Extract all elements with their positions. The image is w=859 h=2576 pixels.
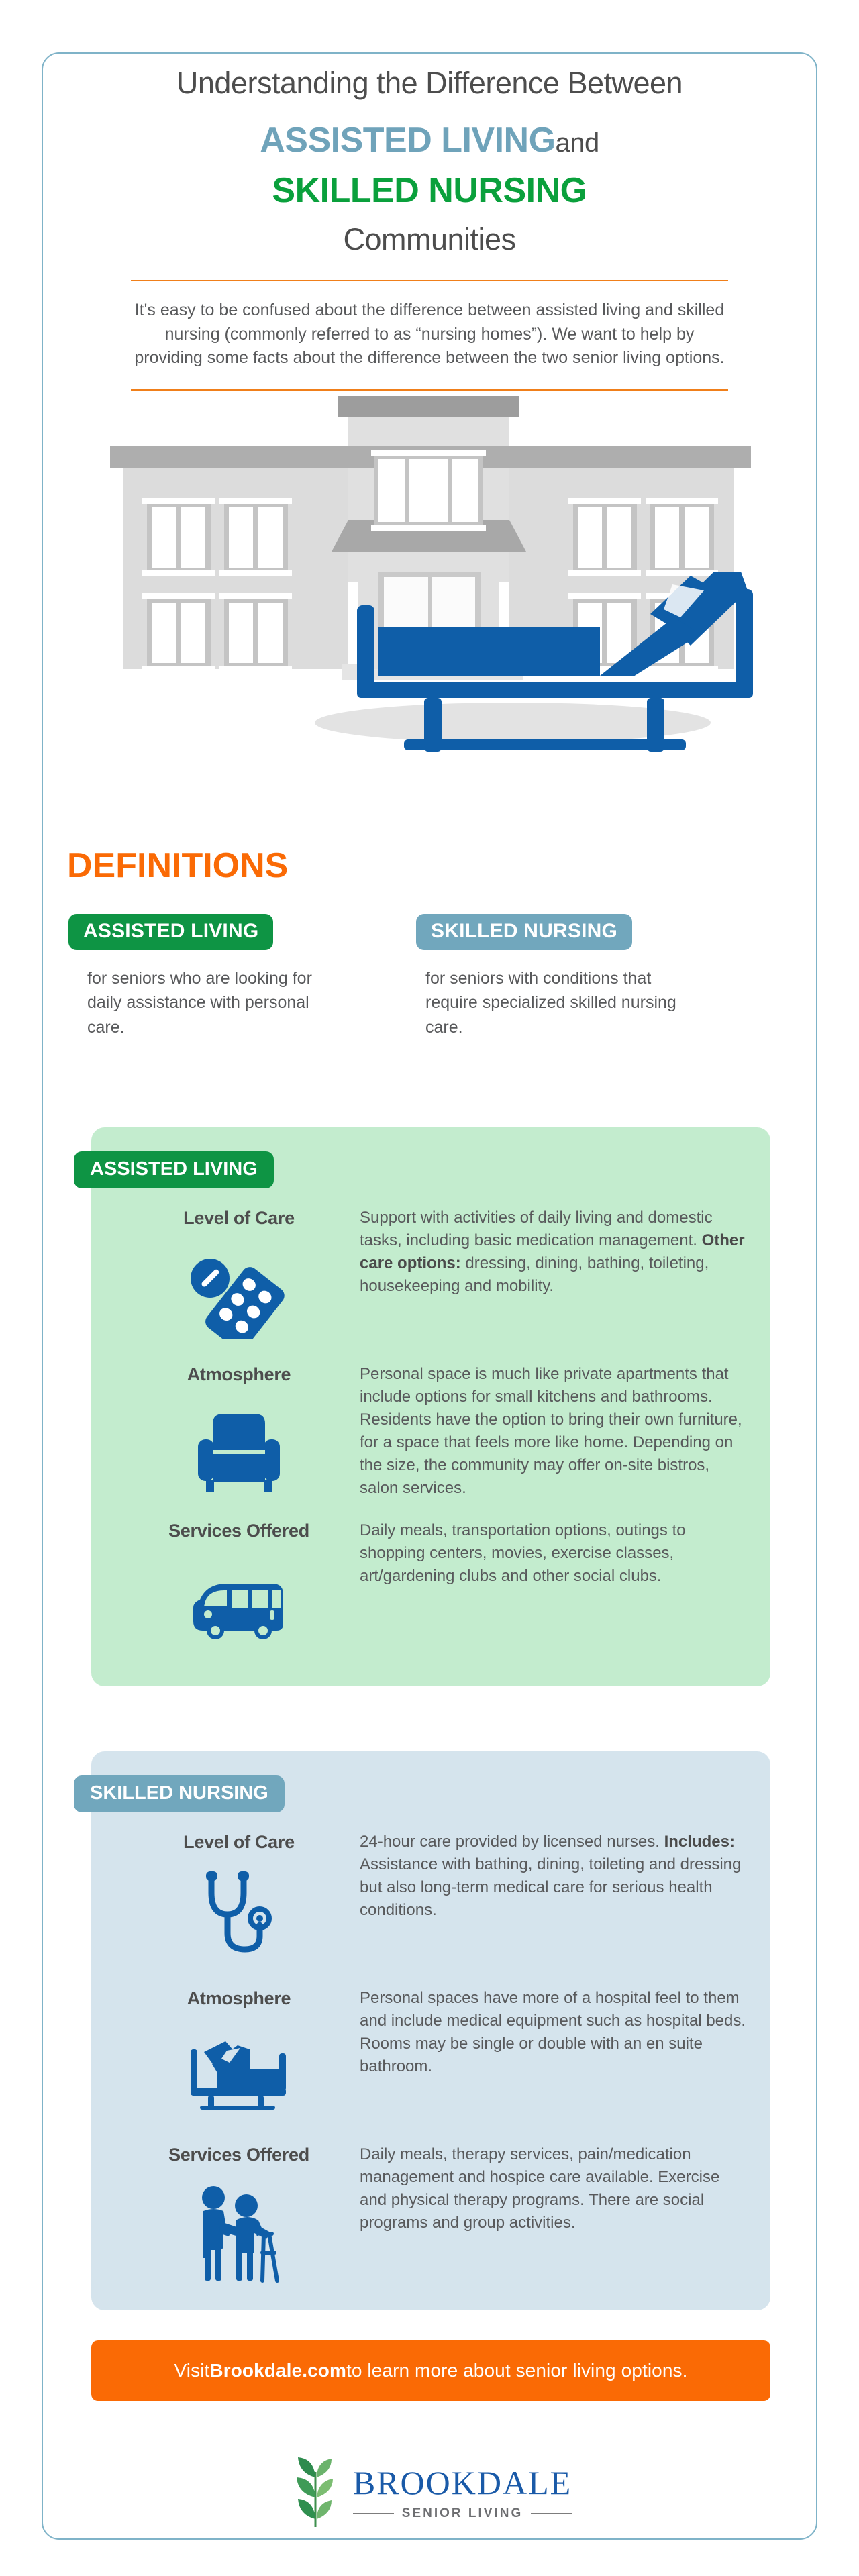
title-communities: Communities <box>43 222 816 257</box>
row-body-level-of-care-sn: 24-hour care provided by licensed nurses… <box>360 1831 746 1922</box>
row-atmosphere-al: Atmosphere Personal <box>91 1363 770 1503</box>
brookdale-logo: BROOKDALE SENIOR LIVING <box>43 2455 819 2532</box>
row-body-services-offered-sn: Daily meals, therapy services, pain/medi… <box>360 2143 746 2234</box>
logo-text-block: BROOKDALE SENIOR LIVING <box>353 2466 572 2521</box>
stethoscope-icon <box>118 1870 360 1971</box>
panel-badge-assisted-living: ASSISTED LIVING <box>74 1151 274 1188</box>
definition-text-skilled-nursing: for seniors with conditions that require… <box>416 966 698 1039</box>
logo-rule-left <box>353 2513 394 2514</box>
row-left-sn-2: Services Offered <box>118 2143 360 2283</box>
divider-top <box>131 280 728 281</box>
leaf-icon <box>290 2455 342 2532</box>
hospital-bed-icon <box>118 2026 360 2127</box>
logo-rule-right <box>531 2513 572 2514</box>
definition-badge-skilled-nursing: SKILLED NURSING <box>416 914 632 950</box>
panel-assisted-living: ASSISTED LIVING Level of Care <box>91 1127 770 1686</box>
panel-badge-skilled-nursing: SKILLED NURSING <box>74 1775 285 1812</box>
row-label-atmosphere-sn: Atmosphere <box>118 1988 360 2009</box>
row-left-al-2: Services Offered <box>118 1519 360 1659</box>
row-label-atmosphere-al: Atmosphere <box>118 1364 360 1385</box>
row-left-al-1: Atmosphere <box>118 1363 360 1503</box>
row-level-of-care-sn: Level of Care <box>91 1831 770 1971</box>
row-left-sn-1: Atmosphere <box>118 1987 360 2127</box>
row-left-sn-0: Level of Care <box>118 1831 360 1971</box>
definition-skilled-nursing: SKILLED NURSING for seniors with conditi… <box>416 914 698 1039</box>
title-assisted-living: ASSISTED LIVING <box>260 121 555 160</box>
sn-loc-lead: 24-hour care provided by licensed nurses… <box>360 1833 664 1851</box>
sn-svc-lead: Daily meals, therapy services, pain/medi… <box>360 2145 719 2232</box>
row-body-services-offered-al: Daily meals, transportation options, out… <box>360 1519 746 1588</box>
cta-prefix: Visit <box>174 2360 210 2381</box>
page-title-line-2: ASSISTED LIVINGand <box>43 119 816 161</box>
definitions-heading: DEFINITIONS <box>67 845 288 886</box>
row-atmosphere-sn: Atmosphere <box>91 1987 770 2127</box>
cta-suffix: to learn more about senior living option… <box>346 2360 688 2381</box>
row-services-offered-sn: Services Offered <box>91 2143 770 2283</box>
divider-bottom <box>131 389 728 391</box>
pills-icon <box>118 1246 360 1347</box>
panel-skilled-nursing: SKILLED NURSING Level of Care <box>91 1751 770 2310</box>
logo-wordmark: BROOKDALE <box>353 2466 572 2500</box>
logo-subtitle-row: SENIOR LIVING <box>353 2506 572 2521</box>
row-label-services-offered-sn: Services Offered <box>118 2145 360 2165</box>
sn-loc-rest: Assistance with bathing, dining, toileti… <box>360 1855 741 1919</box>
al-loc-lead: Support with activities of daily living … <box>360 1208 713 1249</box>
infographic-frame: Understanding the Difference Between ASS… <box>42 52 817 2540</box>
definition-badge-assisted-living: ASSISTED LIVING <box>68 914 273 950</box>
cta-brand-link[interactable]: Brookdale.com <box>209 2360 346 2381</box>
row-body-atmosphere-sn: Personal spaces have more of a hospital … <box>360 1987 746 2078</box>
skilled-nursing-rows: Level of Care <box>91 1751 770 2310</box>
al-svc-lead: Daily meals, transportation options, out… <box>360 1521 686 1585</box>
cta-banner[interactable]: Visit Brookdale.com to learn more about … <box>91 2340 770 2401</box>
sn-atm-lead: Personal spaces have more of a hospital … <box>360 1989 746 2075</box>
logo-subtitle: SENIOR LIVING <box>402 2506 523 2521</box>
armchair-icon <box>118 1402 360 1503</box>
row-services-offered-al: Services Offered <box>91 1519 770 1659</box>
row-label-level-of-care-al: Level of Care <box>118 1208 360 1229</box>
definitions-grid: ASSISTED LIVING for seniors who are look… <box>68 914 793 1039</box>
hero-illustration <box>43 396 819 752</box>
definition-assisted-living: ASSISTED LIVING for seniors who are look… <box>68 914 350 1039</box>
row-label-services-offered-al: Services Offered <box>118 1521 360 1541</box>
title-skilled-nursing: SKILLED NURSING <box>43 170 816 211</box>
assisted-living-rows: Level of Care <box>91 1127 770 1686</box>
row-body-level-of-care-al: Support with activities of daily living … <box>360 1206 746 1298</box>
al-atm-lead: Personal space is much like private apar… <box>360 1365 742 1497</box>
title-conjunction: and <box>556 128 599 158</box>
caregiver-walker-icon <box>118 2183 360 2283</box>
shuttle-van-icon <box>118 1559 360 1659</box>
page-title-line-1: Understanding the Difference Between <box>43 64 816 102</box>
header: Understanding the Difference Between ASS… <box>43 54 816 257</box>
row-body-atmosphere-al: Personal space is much like private apar… <box>360 1363 746 1500</box>
row-level-of-care-al: Level of Care <box>91 1206 770 1347</box>
definition-text-assisted-living: for seniors who are looking for daily as… <box>68 966 350 1039</box>
sn-loc-bold: Includes: <box>664 1833 735 1851</box>
intro-paragraph: It's easy to be confused about the diffe… <box>134 299 725 370</box>
row-left-al-0: Level of Care <box>118 1206 360 1347</box>
row-label-level-of-care-sn: Level of Care <box>118 1832 360 1853</box>
